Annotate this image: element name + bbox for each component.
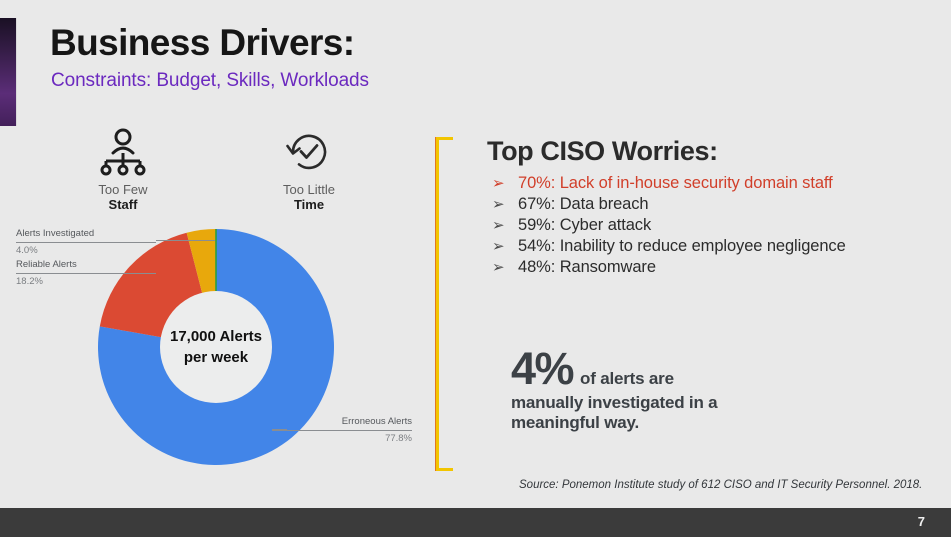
- worry-item-label: 59%: Cyber attack: [518, 216, 651, 235]
- worry-item-label: 70%: Lack of in-house security domain st…: [518, 174, 833, 193]
- page-title: Business Drivers:: [50, 22, 354, 64]
- stat-block: 4% of alerts are manually investigated i…: [511, 346, 911, 433]
- callout-value: 18.2%: [16, 274, 156, 288]
- callout-name: Erroneous Alerts: [272, 416, 412, 431]
- page-number: 7: [918, 514, 925, 529]
- page-subtitle: Constraints: Budget, Skills, Workloads: [51, 70, 369, 92]
- stat-description: manually investigated in ameaningful way…: [511, 393, 911, 433]
- callout-name: Alerts Investigated: [16, 228, 156, 243]
- purple-accent-bar: [0, 18, 17, 126]
- worries-title: Top CISO Worries:: [487, 136, 718, 167]
- constraint-bottom-label: Time: [249, 197, 369, 213]
- worry-item-label: 54%: Inability to reduce employee neglig…: [518, 237, 846, 256]
- constraint-too-few-staff: Too Few Staff: [63, 126, 183, 213]
- donut-hole: [160, 291, 272, 403]
- callout-value: 77.8%: [272, 431, 412, 445]
- worry-item-label: 67%: Data breach: [518, 195, 648, 214]
- constraint-top-label: Too Few: [63, 182, 183, 197]
- arrow-bullet-icon: ➢: [492, 174, 518, 192]
- worries-list: ➢70%: Lack of in-house security domain s…: [492, 174, 922, 279]
- arrow-bullet-icon: ➢: [492, 237, 518, 255]
- worry-item-label: 48%: Ransomware: [518, 258, 656, 277]
- worry-item: ➢67%: Data breach: [492, 195, 922, 216]
- stat-suffix: of alerts are: [580, 369, 674, 389]
- stat-headline: 4% of alerts are: [511, 346, 911, 391]
- arrow-bullet-icon: ➢: [492, 216, 518, 234]
- worry-item: ➢48%: Ransomware: [492, 258, 922, 279]
- leader-line-investigated: [156, 240, 215, 241]
- constraint-top-label: Too Little: [249, 182, 369, 197]
- constraint-bottom-label: Staff: [63, 197, 183, 213]
- clock-check-icon: [249, 126, 369, 178]
- org-chart-person-icon: [63, 126, 183, 178]
- worry-item: ➢54%: Inability to reduce employee negli…: [492, 237, 922, 258]
- worry-item: ➢70%: Lack of in-house security domain s…: [492, 174, 922, 195]
- arrow-bullet-icon: ➢: [492, 195, 518, 213]
- footer-bar: 7: [0, 508, 951, 537]
- constraint-too-little-time: Too Little Time: [249, 126, 369, 213]
- slide-canvas: Business Drivers: Constraints: Budget, S…: [0, 0, 951, 537]
- worry-item: ➢59%: Cyber attack: [492, 216, 922, 237]
- callout-name: Reliable Alerts: [16, 259, 156, 274]
- stat-number: 4%: [511, 346, 573, 391]
- callout-alerts-investigated: Alerts Investigated 4.0%: [16, 228, 156, 257]
- callout-value: 4.0%: [16, 243, 156, 257]
- callout-erroneous-alerts: Erroneous Alerts 77.8%: [272, 416, 412, 445]
- arrow-bullet-icon: ➢: [492, 258, 518, 276]
- callout-reliable-alerts: Reliable Alerts 18.2%: [16, 259, 156, 288]
- yellow-bracket: [436, 137, 453, 471]
- source-note: Source: Ponemon Institute study of 612 C…: [519, 479, 922, 491]
